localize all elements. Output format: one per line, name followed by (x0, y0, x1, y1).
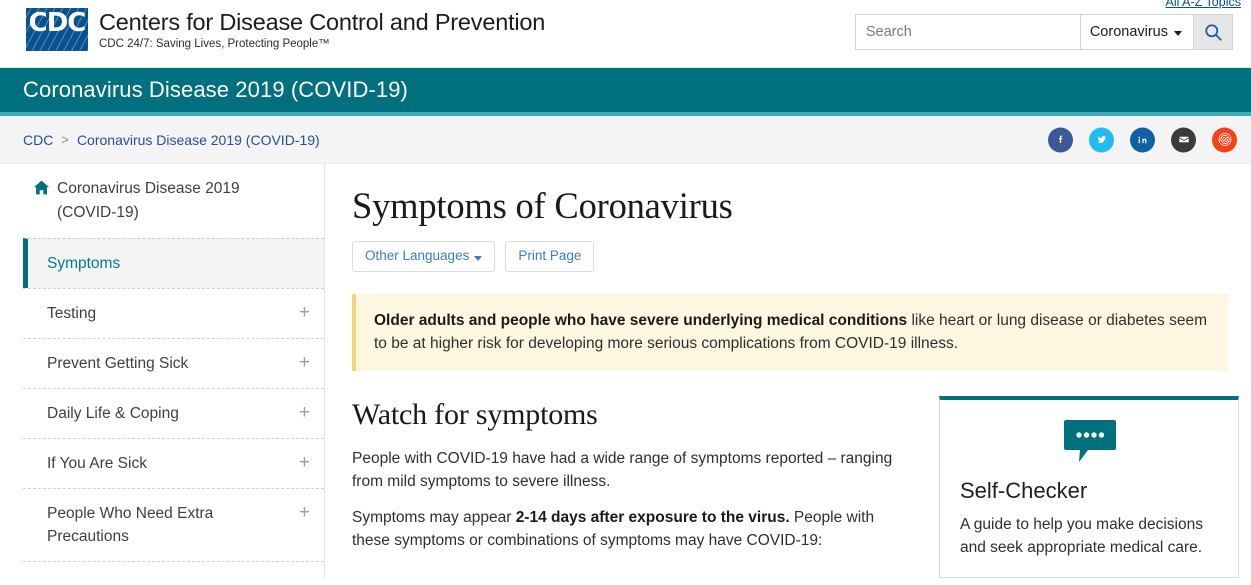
syndicate-icon[interactable] (1212, 127, 1237, 152)
cdc-brand-text: Centers for Disease Control and Preventi… (99, 8, 545, 52)
main-content: Symptoms of Coronavirus Other Languages … (325, 164, 1251, 578)
paragraph-2-pre: Symptoms may appear (352, 509, 516, 526)
banner-title: Coronavirus Disease 2019 (COVID-19) (23, 77, 408, 103)
self-checker-icon-wrap (960, 418, 1220, 466)
breadcrumb-item-covid[interactable]: Coronavirus Disease 2019 (COVID-19) (77, 132, 320, 148)
breadcrumb-item-cdc[interactable]: CDC (23, 132, 53, 148)
all-a-z-topics-link[interactable]: All A-Z Topics (1166, 0, 1242, 9)
sidebar-item-daily-life-and-coping[interactable]: Daily Life & Coping + (23, 388, 324, 438)
lower-section: Watch for symptoms People with COVID-19 … (352, 396, 1239, 578)
search-scope-dropdown[interactable]: Coronavirus (1080, 14, 1193, 50)
expand-plus-icon[interactable]: + (299, 353, 310, 372)
sidebar-home-label: Coronavirus Disease 2019 (COVID-19) (57, 177, 262, 225)
chevron-down-icon (474, 256, 482, 261)
search-button[interactable] (1193, 14, 1233, 50)
email-icon[interactable] (1171, 127, 1196, 152)
sidebar-item-prevent-getting-sick[interactable]: Prevent Getting Sick + (23, 338, 324, 388)
sidebar-nav-list: Symptoms Testing + Prevent Getting Sick … (23, 238, 324, 578)
page-body: Coronavirus Disease 2019 (COVID-19) Symp… (0, 164, 1251, 578)
sidebar-item-label: Prevent Getting Sick (47, 355, 188, 372)
section-paragraph-1: People with COVID-19 have had a wide ran… (352, 447, 915, 493)
search-bar: Coronavirus (855, 14, 1233, 50)
expand-plus-icon[interactable]: + (299, 503, 310, 522)
linkedin-icon[interactable] (1130, 127, 1155, 152)
section-heading: Watch for symptoms (352, 396, 915, 434)
chat-bubble-icon (1062, 418, 1118, 466)
sidebar-item-home[interactable]: Coronavirus Disease 2019 (COVID-19) (23, 177, 324, 225)
other-languages-button[interactable]: Other Languages (352, 241, 495, 272)
expand-plus-icon[interactable]: + (299, 303, 310, 322)
cdc-brand[interactable]: CDC Centers for Disease Control and Prev… (26, 8, 545, 52)
search-input[interactable] (855, 14, 1080, 50)
other-languages-label: Other Languages (365, 248, 469, 263)
self-checker-title: Self-Checker (960, 476, 1220, 506)
sidebar: Coronavirus Disease 2019 (COVID-19) Symp… (0, 164, 325, 578)
expand-plus-icon[interactable]: + (299, 403, 310, 422)
paragraph-2-bold: 2-14 days after exposure to the virus. (516, 509, 790, 526)
search-icon (1204, 23, 1223, 42)
expand-plus-icon[interactable]: + (299, 453, 310, 472)
sidebar-item-label: Daily Life & Coping (47, 405, 179, 422)
search-scope-label: Coronavirus (1090, 24, 1168, 40)
sidebar-item-people-who-need-extra-precautions[interactable]: People Who Need Extra Precautions + (23, 488, 324, 561)
sidebar-item-frequently-asked-questions[interactable]: Frequently Asked Questions (23, 561, 324, 578)
alert-bold-text: Older adults and people who have severe … (374, 312, 907, 329)
page-action-buttons: Other Languages Print Page (352, 241, 1239, 272)
sidebar-item-symptoms[interactable]: Symptoms (23, 238, 324, 288)
sidebar-item-testing[interactable]: Testing + (23, 288, 324, 338)
cdc-tagline: CDC 24/7: Saving Lives, Protecting Peopl… (99, 37, 545, 52)
sidebar-item-label: If You Are Sick (47, 455, 147, 472)
twitter-icon[interactable] (1089, 127, 1114, 152)
page-banner: Coronavirus Disease 2019 (COVID-19) (0, 68, 1251, 116)
cdc-org-title: Centers for Disease Control and Preventi… (99, 9, 545, 35)
breadcrumb-separator: > (61, 132, 69, 147)
sidebar-item-if-you-are-sick[interactable]: If You Are Sick + (23, 438, 324, 488)
breadcrumb-bar: CDC > Coronavirus Disease 2019 (COVID-19… (0, 116, 1251, 164)
chevron-down-icon (1174, 31, 1182, 36)
self-checker-card[interactable]: Self-Checker A guide to help you make de… (939, 396, 1239, 578)
home-icon (33, 180, 50, 195)
print-page-button[interactable]: Print Page (505, 241, 594, 272)
sidebar-item-label: Testing (47, 305, 96, 322)
risk-alert-banner: Older adults and people who have severe … (352, 294, 1228, 371)
sidebar-item-label: Symptoms (47, 255, 120, 272)
social-share-group (1048, 127, 1237, 152)
cdc-logo-stripes (26, 8, 88, 51)
facebook-icon[interactable] (1048, 127, 1073, 152)
section-paragraph-2: Symptoms may appear 2-14 days after expo… (352, 506, 915, 552)
site-header: All A-Z Topics CDC Centers for Disease C… (0, 0, 1251, 68)
self-checker-description: A guide to help you make decisions and s… (960, 513, 1220, 559)
page-title: Symptoms of Coronavirus (352, 184, 1239, 228)
watch-for-symptoms-section: Watch for symptoms People with COVID-19 … (352, 396, 915, 578)
cdc-logo[interactable]: CDC (26, 8, 88, 51)
sidebar-item-label: People Who Need Extra Precautions (47, 505, 213, 545)
